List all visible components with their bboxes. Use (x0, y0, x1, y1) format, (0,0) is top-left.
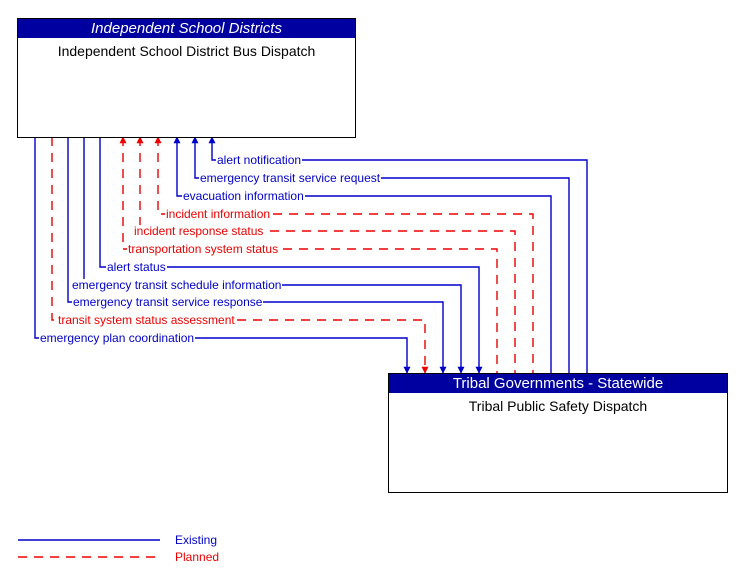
legend-label-existing: Existing (175, 533, 217, 547)
node-independent-school-district-bus-dispatch[interactable]: Independent School Districts Independent… (17, 18, 356, 138)
flow-label-incident-response-status: incident response status (133, 225, 264, 238)
node-header-independent-school-districts: Independent School Districts (18, 19, 355, 38)
flow-label-transportation-system-status: transportation system status (127, 243, 279, 256)
flow-label-incident-information: incident information (165, 208, 271, 221)
flow-label-alert-status: alert status (106, 261, 167, 274)
flow-label-evacuation-information: evacuation information (182, 190, 305, 203)
flow-label-emergency-transit-schedule-information: emergency transit schedule information (71, 279, 282, 292)
node-title-tribal-public-safety-dispatch: Tribal Public Safety Dispatch (389, 393, 727, 416)
flow-label-emergency-transit-service-request: emergency transit service request (199, 172, 381, 185)
legend-label-planned: Planned (175, 550, 219, 564)
node-tribal-public-safety-dispatch[interactable]: Tribal Governments - Statewide Tribal Pu… (388, 373, 728, 493)
flow-label-emergency-plan-coordination: emergency plan coordination (39, 332, 195, 345)
flow-label-emergency-transit-service-response: emergency transit service response (72, 296, 263, 309)
flow-label-alert-notification: alert notification (216, 154, 302, 167)
node-title-independent-school-district-bus-dispatch: Independent School District Bus Dispatch (18, 38, 355, 61)
node-header-tribal-governments-statewide: Tribal Governments - Statewide (389, 374, 727, 393)
flow-label-transit-system-status-assessment: transit system status assessment (57, 314, 236, 327)
